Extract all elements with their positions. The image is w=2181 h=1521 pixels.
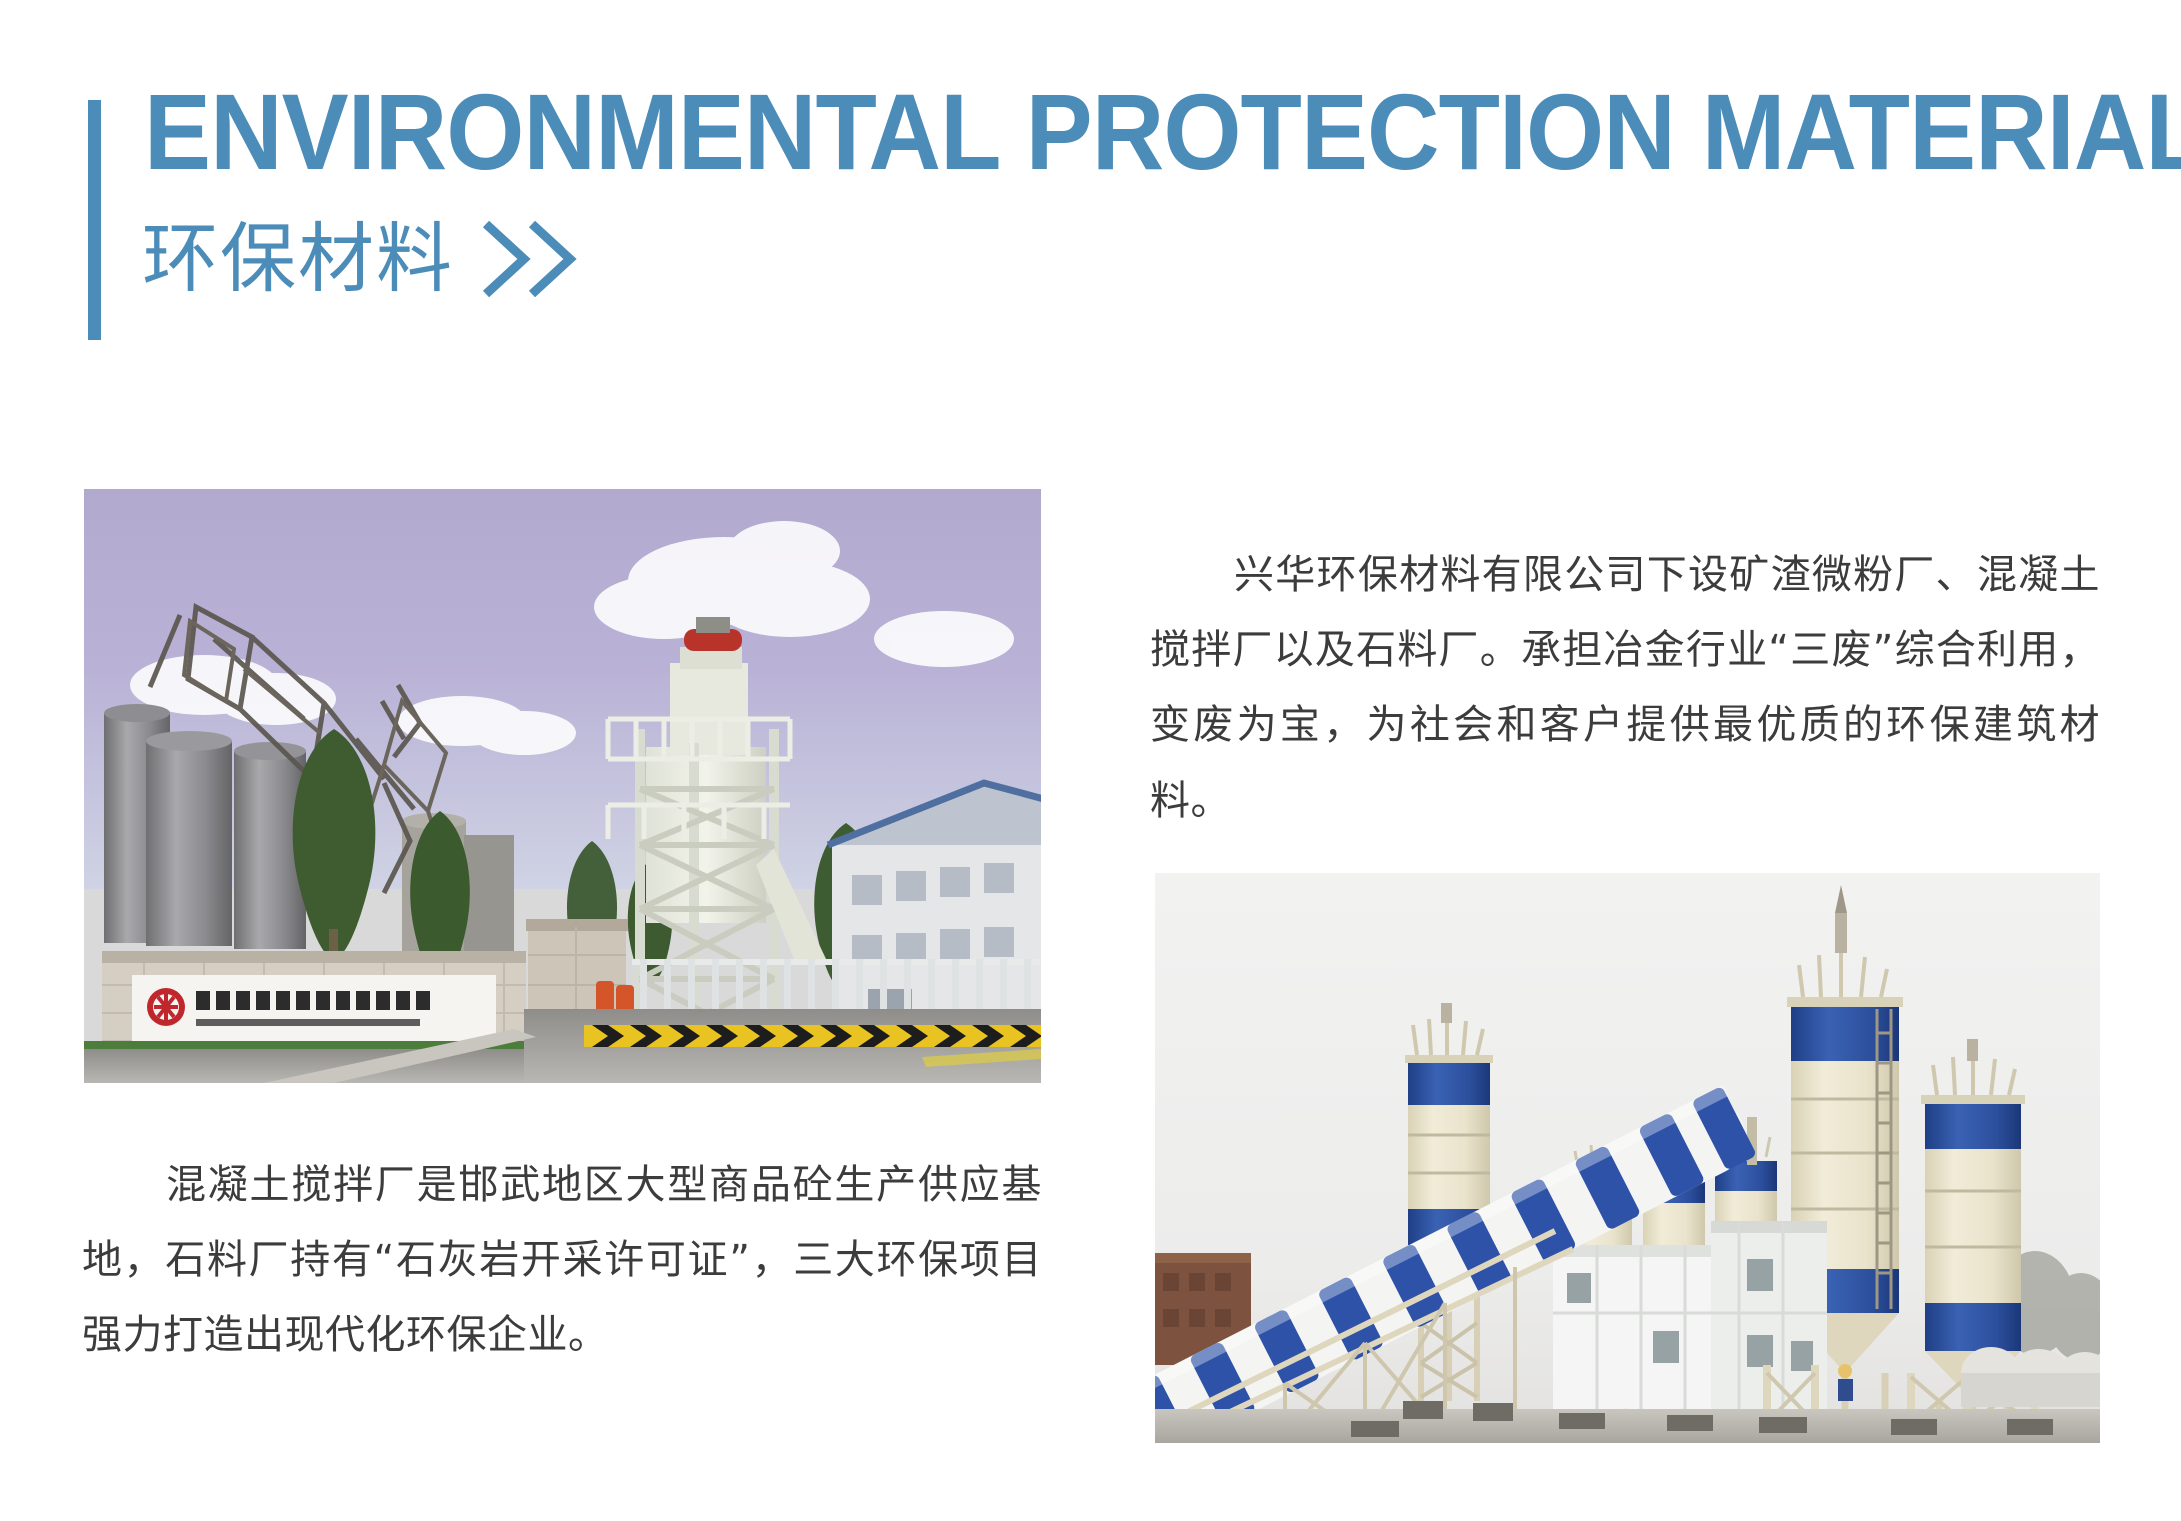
concrete-batching-plant-photo [1155,873,2100,1443]
page-subtitle-row: 环保材料 [142,212,590,305]
page-title-chinese: 环保材料 [142,221,454,297]
header-accent-bar [88,100,101,340]
double-chevron-right-icon [480,218,590,305]
intro-paragraph-left: 混凝土搅拌厂是邯武地区大型商品砼生产供应基地，石料厂持有“石灰岩开采许可证”，三… [82,1148,1042,1374]
page-title-english: ENVIRONMENTAL PROTECTION MATERIALS [144,72,2181,193]
page-header: ENVIRONMENTAL PROTECTION MATERIALS 环保材料 [88,72,2148,332]
factory-gate-photo [84,489,1041,1083]
intro-paragraph-right: 兴华环保材料有限公司下设矿渣微粉厂、混凝土搅拌厂以及石料厂。承担冶金行业“三废”… [1150,538,2100,839]
